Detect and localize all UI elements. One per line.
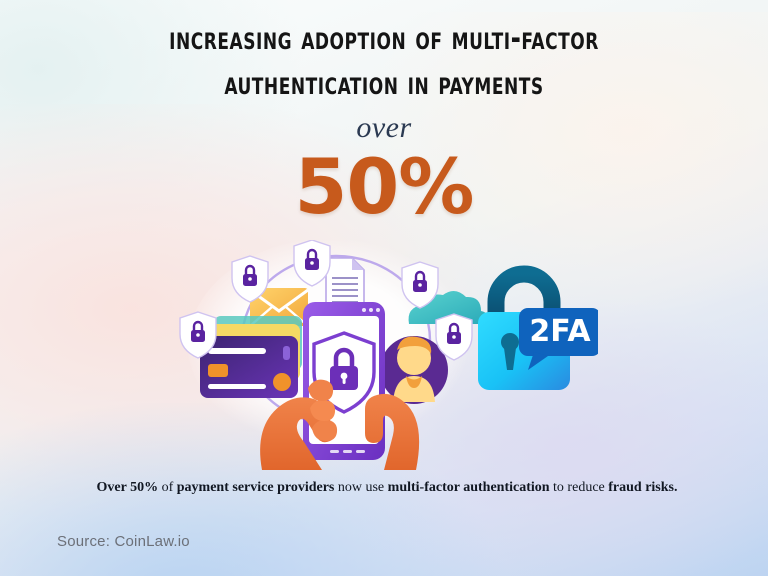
mfa-payment-illustration: 2FA xyxy=(178,240,598,470)
stat-prefix: over xyxy=(0,112,768,144)
title-line-1: Increasing Adoption of Multi-Factor xyxy=(54,16,714,61)
headline-statistic: over 50% xyxy=(0,112,768,226)
padlock-2fa-icon: 2FA xyxy=(478,274,598,390)
page-title: Increasing Adoption of Multi-Factor Auth… xyxy=(0,16,768,106)
stat-value: 50% xyxy=(0,148,768,226)
caption-segments: Over 50% of payment service providers no… xyxy=(97,480,678,495)
caption-run: Over 50% xyxy=(97,480,159,495)
caption-run: now use xyxy=(334,480,387,495)
caption-run: of xyxy=(158,480,177,495)
caption-text: Over 50% of payment service providers no… xyxy=(64,476,710,499)
caption-run: payment service providers xyxy=(177,480,335,495)
caption-run: to reduce xyxy=(550,480,609,495)
caption-run: fraud risks. xyxy=(608,480,677,495)
infographic-canvas: Increasing Adoption of Multi-Factor Auth… xyxy=(0,0,768,576)
2fa-badge-label: 2FA xyxy=(529,314,591,349)
title-line-2: Authentication in Payments xyxy=(54,61,714,106)
caption-run: multi-factor authentication xyxy=(388,480,550,495)
source-attribution: Source: CoinLaw.io xyxy=(57,533,190,550)
